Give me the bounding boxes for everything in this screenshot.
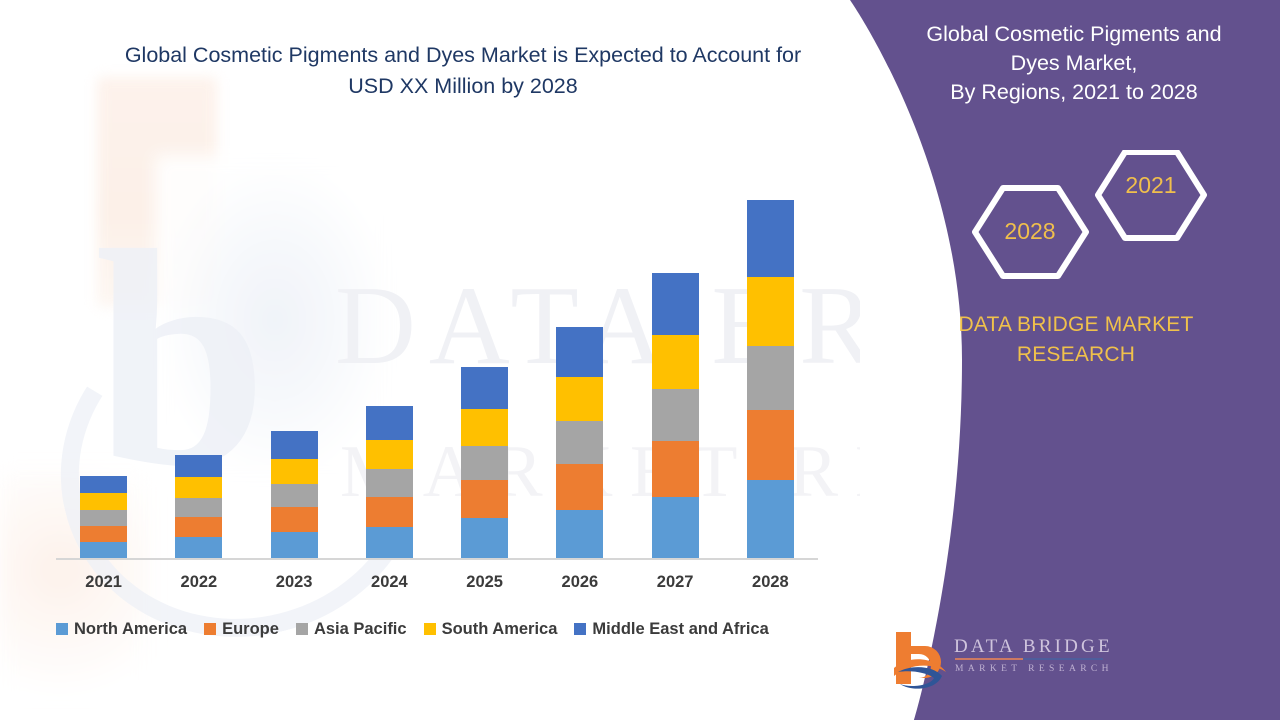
bar-segment-north-america bbox=[747, 480, 794, 559]
hexagon-label-2021: 2021 bbox=[1118, 172, 1184, 199]
legend-item-europe[interactable]: Europe bbox=[204, 620, 279, 639]
bar-2023 bbox=[271, 431, 318, 559]
legend-label: North America bbox=[74, 620, 187, 639]
logo-text-secondary: MARKET RESEARCH bbox=[955, 664, 1113, 674]
x-axis-label-2027: 2027 bbox=[640, 573, 710, 592]
company-logo: DATA BRIDGE MARKET RESEARCH bbox=[892, 628, 1107, 700]
bar-2026 bbox=[556, 327, 603, 559]
chart-title: Global Cosmetic Pigments and Dyes Market… bbox=[118, 40, 808, 102]
logo-text-primary: DATA BRIDGE bbox=[954, 636, 1113, 658]
bar-segment-middle-east-and-africa bbox=[747, 200, 794, 277]
bar-segment-north-america bbox=[461, 518, 508, 559]
legend-swatch-icon bbox=[424, 623, 436, 635]
bar-segment-asia-pacific bbox=[175, 498, 222, 517]
panel-title: Global Cosmetic Pigments and Dyes Market… bbox=[840, 20, 1280, 108]
bar-segment-south-america bbox=[652, 335, 699, 389]
legend-item-asia-pacific[interactable]: Asia Pacific bbox=[296, 620, 407, 639]
bar-segment-middle-east-and-africa bbox=[175, 455, 222, 478]
bar-2022 bbox=[175, 455, 222, 559]
bar-segment-europe bbox=[652, 441, 699, 497]
bar-segment-north-america bbox=[556, 510, 603, 560]
legend-item-south-america[interactable]: South America bbox=[424, 620, 558, 639]
bar-segment-north-america bbox=[80, 542, 127, 559]
stacked-bar-chart bbox=[56, 150, 818, 559]
x-axis-label-2025: 2025 bbox=[450, 573, 520, 592]
x-axis-label-2024: 2024 bbox=[354, 573, 424, 592]
panel-title-line-3: By Regions, 2021 to 2028 bbox=[950, 80, 1197, 104]
legend-swatch-icon bbox=[56, 623, 68, 635]
legend-swatch-icon bbox=[296, 623, 308, 635]
bar-2021 bbox=[80, 476, 127, 559]
bar-segment-middle-east-and-africa bbox=[80, 476, 127, 493]
bar-segment-north-america bbox=[271, 532, 318, 559]
bar-segment-asia-pacific bbox=[80, 510, 127, 526]
bar-segment-asia-pacific bbox=[366, 469, 413, 497]
x-axis-label-2022: 2022 bbox=[164, 573, 234, 592]
bar-segment-europe bbox=[556, 464, 603, 509]
x-axis-label-2028: 2028 bbox=[735, 573, 805, 592]
legend-item-middle-east-and-africa[interactable]: Middle East and Africa bbox=[574, 620, 768, 639]
bar-2025 bbox=[461, 367, 508, 559]
x-axis-label-2026: 2026 bbox=[545, 573, 615, 592]
bar-segment-asia-pacific bbox=[652, 389, 699, 441]
bar-segment-europe bbox=[80, 526, 127, 542]
legend-item-north-america[interactable]: North America bbox=[56, 620, 187, 639]
hexagon-group: 2021 2028 bbox=[840, 150, 1280, 295]
bar-segment-middle-east-and-africa bbox=[366, 406, 413, 439]
panel-title-line-1: Global Cosmetic Pigments and bbox=[926, 22, 1221, 46]
brand-line-2: RESEARCH bbox=[1017, 343, 1135, 366]
brand-line-1: DATA BRIDGE MARKET bbox=[958, 313, 1193, 336]
bar-segment-south-america bbox=[80, 493, 127, 509]
x-axis-line bbox=[56, 558, 818, 560]
bar-segment-middle-east-and-africa bbox=[461, 367, 508, 409]
bar-segment-south-america bbox=[271, 459, 318, 484]
panel-title-line-2: Dyes Market, bbox=[1011, 51, 1138, 75]
bar-segment-asia-pacific bbox=[747, 346, 794, 411]
bar-2024 bbox=[366, 406, 413, 559]
legend-label: Asia Pacific bbox=[314, 620, 407, 639]
logo-mark-icon bbox=[892, 628, 952, 694]
bar-segment-middle-east-and-africa bbox=[271, 431, 318, 459]
bar-segment-north-america bbox=[366, 527, 413, 559]
bar-segment-europe bbox=[175, 517, 222, 537]
bar-2028 bbox=[747, 200, 794, 559]
bar-segment-asia-pacific bbox=[556, 421, 603, 464]
bar-segment-europe bbox=[366, 497, 413, 527]
bar-segment-asia-pacific bbox=[271, 484, 318, 508]
right-panel: Global Cosmetic Pigments and Dyes Market… bbox=[840, 0, 1280, 720]
bar-segment-south-america bbox=[175, 477, 222, 497]
legend-label: Middle East and Africa bbox=[592, 620, 768, 639]
bar-segment-south-america bbox=[747, 277, 794, 346]
legend-label: South America bbox=[442, 620, 558, 639]
x-axis-labels: 20212022202320242025202620272028 bbox=[56, 573, 818, 601]
bar-segment-europe bbox=[747, 410, 794, 480]
bar-segment-south-america bbox=[366, 440, 413, 469]
legend-swatch-icon bbox=[204, 623, 216, 635]
x-axis-label-2023: 2023 bbox=[259, 573, 329, 592]
bar-segment-south-america bbox=[556, 377, 603, 421]
legend-swatch-icon bbox=[574, 623, 586, 635]
logo-divider bbox=[955, 658, 1103, 660]
bar-segment-asia-pacific bbox=[461, 446, 508, 480]
hexagon-label-2028: 2028 bbox=[997, 218, 1063, 245]
bar-segment-middle-east-and-africa bbox=[556, 327, 603, 378]
infographic-canvas: b DATA BRIDGE MARKET RESEARCH Global Cos… bbox=[0, 0, 1280, 720]
bar-segment-europe bbox=[271, 507, 318, 532]
panel-brand-text: DATA BRIDGE MARKET RESEARCH bbox=[840, 310, 1280, 370]
bar-segment-europe bbox=[461, 480, 508, 518]
legend-label: Europe bbox=[222, 620, 279, 639]
bar-2027 bbox=[652, 273, 699, 559]
bar-segment-south-america bbox=[461, 409, 508, 446]
bar-segment-middle-east-and-africa bbox=[652, 273, 699, 335]
bar-segment-north-america bbox=[175, 537, 222, 559]
bar-segment-north-america bbox=[652, 497, 699, 559]
x-axis-label-2021: 2021 bbox=[69, 573, 139, 592]
chart-legend: North AmericaEuropeAsia PacificSouth Ame… bbox=[56, 616, 836, 642]
